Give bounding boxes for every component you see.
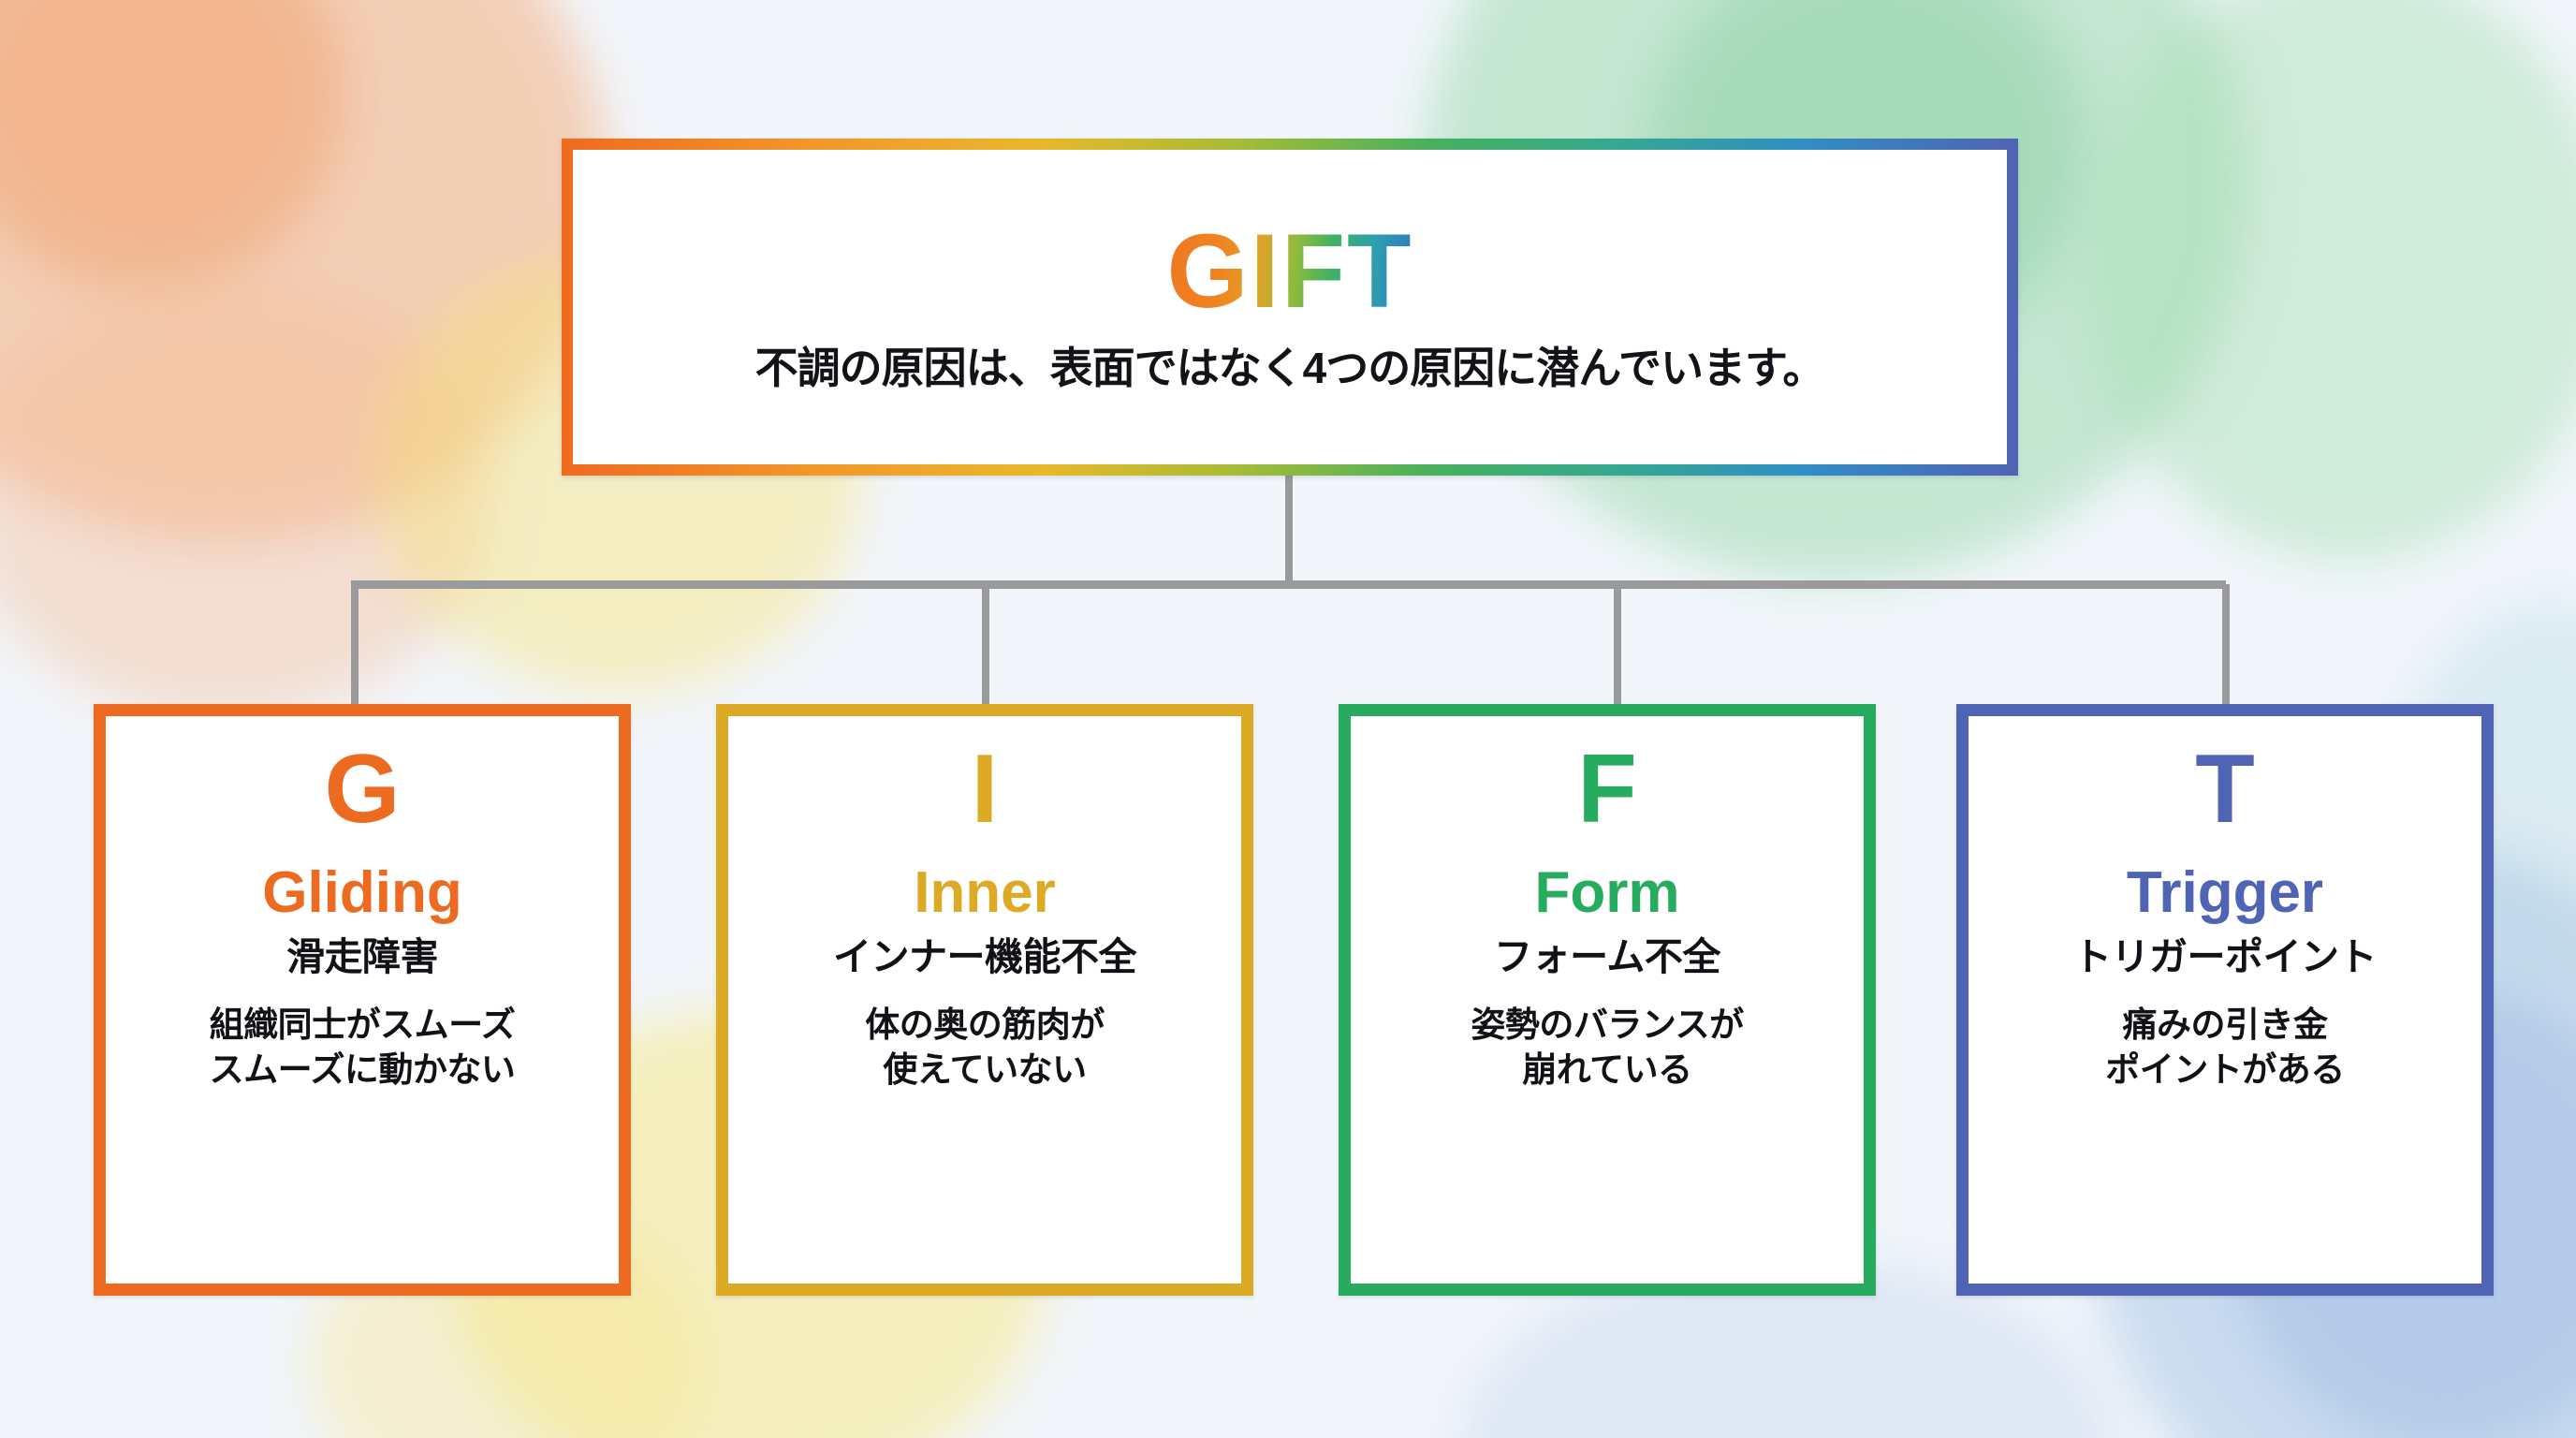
gift-title-card: GIFT 不調の原因は、表面ではなく4つの原因に潜んでいます。 — [562, 139, 2018, 476]
card-english-label: Inner — [914, 862, 1056, 923]
card-description-line-2: ポイントがある — [2105, 1048, 2345, 1092]
connector-drop-form — [1614, 584, 1621, 708]
concept-card-inner: I Inner インナー機能不全 体の奥の筋肉が 使えていない — [728, 716, 1241, 1284]
card-japanese-title: トリガーポイント — [2073, 936, 2377, 978]
card-description-line-2: 使えていない — [865, 1048, 1105, 1092]
gift-subtitle: 不調の原因は、表面ではなく4つの原因に潜んでいます。 — [755, 334, 1825, 396]
card-description: 痛みの引き金 ポイントがある — [2105, 1003, 2345, 1092]
card-english-label: Gliding — [262, 862, 462, 923]
gift-title-card-inner: GIFT 不調の原因は、表面ではなく4つの原因に潜んでいます。 — [573, 150, 2007, 464]
card-description-line-1: 組織同士がスムーズ — [210, 1003, 516, 1047]
concept-card-inner-muscle: I Inner インナー機能不全 体の奥の筋肉が 使えていない — [716, 704, 1253, 1296]
card-letter-t: T — [2195, 741, 2255, 838]
card-description-line-2: 崩れている — [1471, 1048, 1743, 1092]
concept-card-inner: G Gliding 滑走障害 組織同士がスムーズ スムーズに動かない — [106, 716, 619, 1284]
card-japanese-title: 滑走障害 — [286, 936, 438, 978]
concept-card-trigger: T Trigger トリガーポイント 痛みの引き金 ポイントがある — [1956, 704, 2494, 1296]
connector-stem — [1285, 476, 1293, 586]
card-letter-f: F — [1577, 741, 1637, 838]
connector-drop-inner — [982, 584, 989, 708]
card-description: 体の奥の筋肉が 使えていない — [865, 1003, 1105, 1092]
card-english-label: Trigger — [2127, 862, 2323, 923]
connector-drop-trigger — [2222, 584, 2230, 708]
concept-card-inner: F Form フォーム不全 姿勢のバランスが 崩れている — [1351, 716, 1864, 1284]
gift-acronym: GIFT — [1166, 218, 1412, 325]
connector-horizontal-bus — [351, 580, 2226, 589]
card-description-line-2: スムーズに動かない — [210, 1048, 516, 1092]
card-letter-g: G — [325, 741, 401, 838]
card-letter-i: I — [972, 741, 999, 838]
card-description-line-1: 姿勢のバランスが — [1471, 1003, 1743, 1047]
card-japanese-title: インナー機能不全 — [833, 936, 1136, 978]
concept-card-gliding: G Gliding 滑走障害 組織同士がスムーズ スムーズに動かない — [94, 704, 631, 1296]
card-description-line-1: 痛みの引き金 — [2105, 1003, 2345, 1047]
concept-card-inner: T Trigger トリガーポイント 痛みの引き金 ポイントがある — [1969, 716, 2481, 1284]
card-description-line-1: 体の奥の筋肉が — [865, 1003, 1105, 1047]
card-english-label: Form — [1535, 862, 1680, 923]
card-japanese-title: フォーム不全 — [1494, 936, 1720, 978]
card-description: 姿勢のバランスが 崩れている — [1471, 1003, 1743, 1092]
card-description: 組織同士がスムーズ スムーズに動かない — [210, 1003, 516, 1092]
concept-card-form: F Form フォーム不全 姿勢のバランスが 崩れている — [1339, 704, 1876, 1296]
connector-drop-gliding — [351, 584, 359, 708]
